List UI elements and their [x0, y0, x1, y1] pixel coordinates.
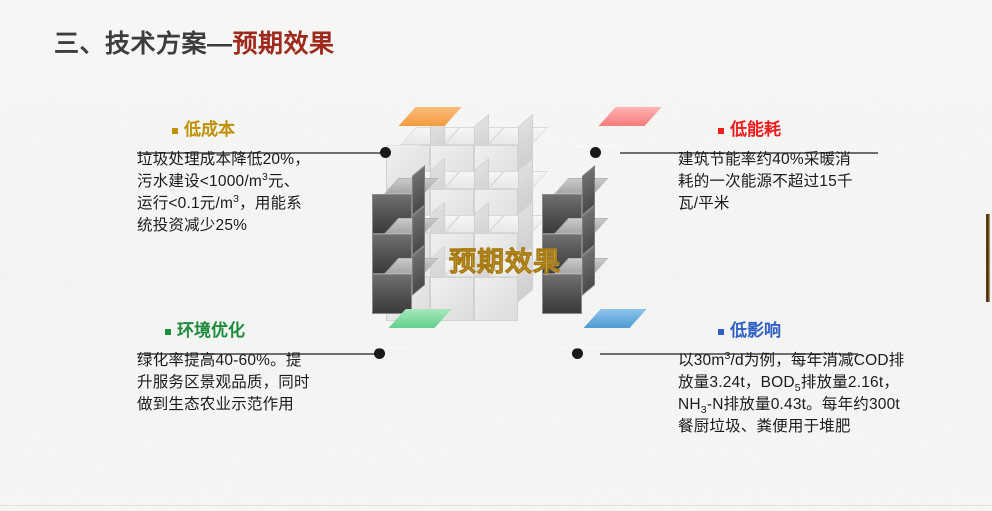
square-bullet-icon: [172, 128, 178, 134]
quadrant-body-low-cost: 垃圾处理成本降低20%，污水建设<1000/m3元、运行<0.1元/m3，用能系…: [137, 149, 315, 237]
quadrant-heading-label: 低成本: [184, 121, 235, 140]
page-title: 三、技术方案—预期效果: [54, 24, 335, 60]
square-bullet-icon: [718, 329, 724, 335]
quadrant-low-energy: 低能耗 建筑节能率约40%采暖消耗的一次能源不超过15千瓦/平米: [678, 121, 933, 215]
quadrant-heading-low-cost: 低成本: [137, 121, 387, 140]
center-cube-r4c3: [474, 277, 518, 321]
square-bullet-icon: [165, 329, 171, 335]
corner-cube-orange[interactable]: [375, 126, 421, 172]
corner-cube-blue[interactable]: [560, 328, 606, 374]
quadrant-heading-low-energy: 低能耗: [678, 121, 933, 140]
quadrant-low-impact: 低影响 以30m3/d为例，每年消减COD排放量3.24t，BOD5排放量2.1…: [678, 322, 933, 438]
body-segment: -N排放量0.43t。每年约300t餐厨垃圾、粪便用于堆肥: [678, 396, 900, 435]
center-label: 预期效果: [370, 240, 640, 279]
quadrant-heading-low-impact: 低影响: [678, 322, 933, 341]
quadrant-heading-label: 低能耗: [730, 121, 781, 140]
corner-cube-red[interactable]: [575, 126, 621, 172]
quadrant-body-low-impact: 以30m3/d为例，每年消减COD排放量3.24t，BOD5排放量2.16t，N…: [678, 350, 908, 438]
corner-cube-green[interactable]: [365, 328, 411, 374]
page-title-main: 三、技术方案—: [54, 30, 233, 58]
right-dark-cube-3: [542, 274, 582, 314]
left-dark-cube-3: [372, 274, 412, 314]
quadrant-heading-label: 环境优化: [177, 322, 245, 341]
square-bullet-icon: [718, 128, 724, 134]
quadrant-heading-environment: 环境优化: [137, 322, 387, 341]
quadrant-heading-label: 低影响: [730, 322, 781, 341]
quadrant-low-cost: 低成本 垃圾处理成本降低20%，污水建设<1000/m3元、运行<0.1元/m3…: [137, 121, 387, 237]
right-edge-sliver: [986, 214, 990, 302]
quadrant-body-environment: 绿化率提高40-60%。提升服务区景观品质，同时做到生态农业示范作用: [137, 350, 315, 416]
slide-canvas: 三、技术方案—预期效果: [0, 0, 992, 511]
body-segment: 以30m: [678, 352, 724, 369]
bottom-divider: [0, 505, 992, 506]
quadrant-body-low-energy: 建筑节能率约40%采暖消耗的一次能源不超过15千瓦/平米: [678, 149, 863, 215]
quadrant-environment-optimization: 环境优化 绿化率提高40-60%。提升服务区景观品质，同时做到生态农业示范作用: [137, 322, 387, 416]
page-title-accent: 预期效果: [233, 30, 335, 58]
